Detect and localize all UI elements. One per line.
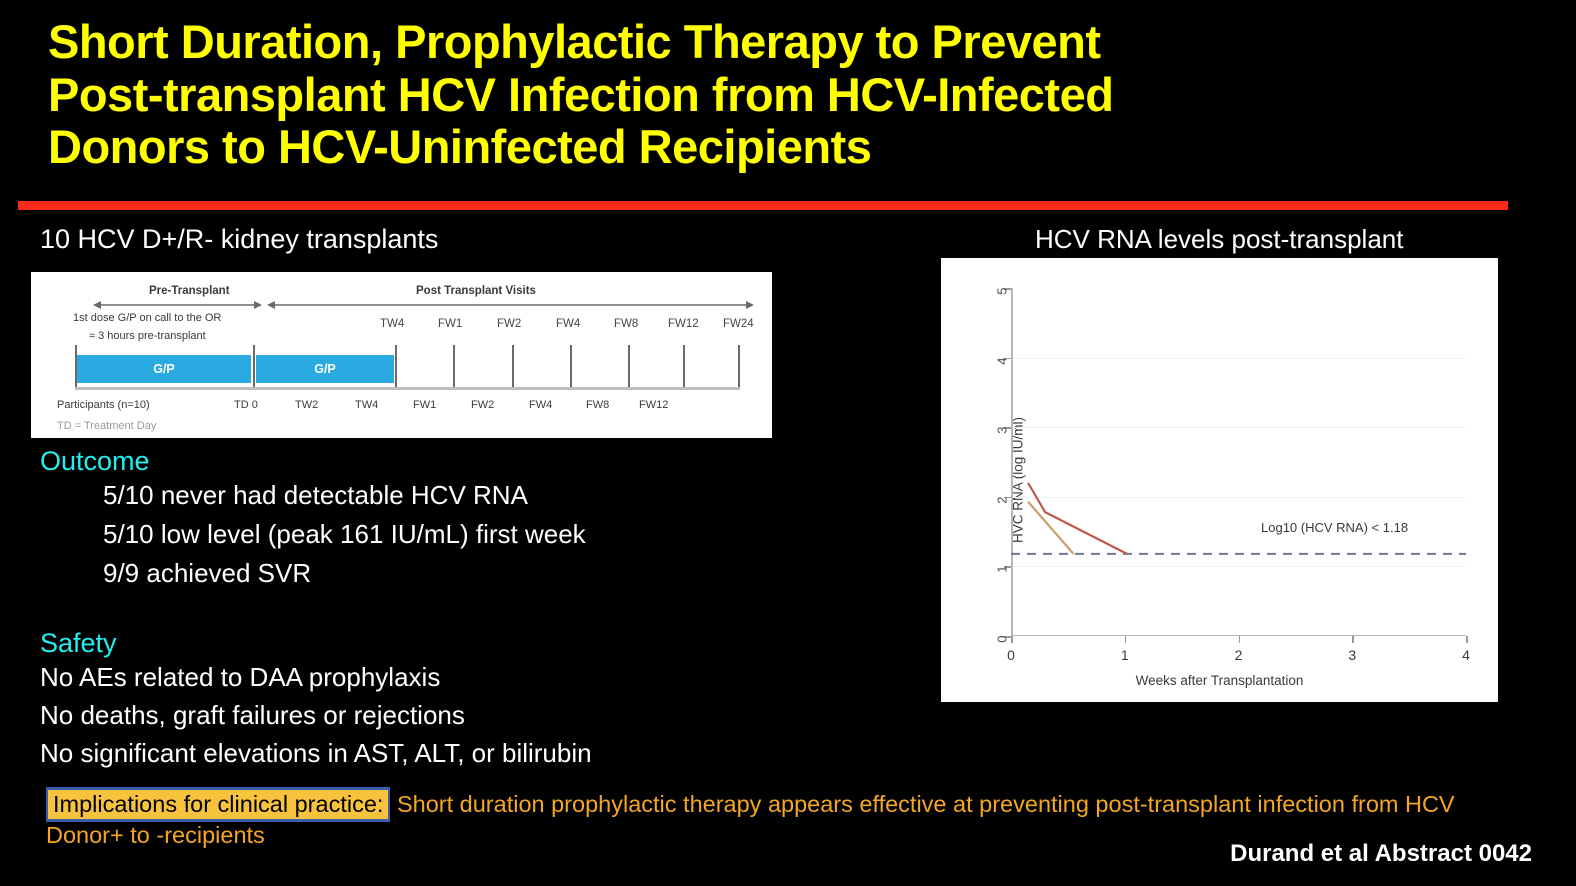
- implications-tag: Implications for clinical practice:: [46, 787, 390, 822]
- participant-visit-fw1: FW1: [413, 399, 436, 411]
- safety-item-3: No significant elevations in AST, ALT, o…: [40, 738, 592, 769]
- ytick-label-0: 0: [995, 636, 1010, 643]
- pre-transplant-arrow-right: [254, 301, 262, 309]
- safety-heading: Safety: [40, 628, 117, 659]
- page-title: Short Duration, Prophylactic Therapy to …: [48, 16, 1538, 174]
- outcome-item-2: 5/10 low level (peak 161 IU/mL) first we…: [103, 519, 586, 550]
- safety-item-1: No AEs related to DAA prophylaxis: [40, 662, 440, 693]
- participant-visit-fw4: FW4: [529, 399, 552, 411]
- timeline-baseline: [75, 387, 740, 390]
- participant-visit-fw12: FW12: [639, 399, 668, 411]
- timeline-tick-transplant: [253, 345, 255, 387]
- visit-label-fw1: FW1: [438, 318, 462, 330]
- left-column-header: 10 HCV D+/R- kidney transplants: [40, 224, 438, 255]
- participant-visit-tw2: TW2: [295, 399, 318, 411]
- gp-bar-post-transplant: G/P: [256, 355, 394, 383]
- xtick-4: [1466, 636, 1468, 643]
- participant-visit-tw4: TW4: [355, 399, 378, 411]
- outcome-item-3: 9/9 achieved SVR: [103, 558, 311, 589]
- xtick-1: [1125, 636, 1127, 643]
- title-line-2: Post-transplant HCV Infection from HCV-I…: [48, 69, 1538, 122]
- diagram-footnote: TD = Treatment Day: [57, 420, 156, 432]
- slide: Short Duration, Prophylactic Therapy to …: [0, 0, 1576, 886]
- visit-label-fw8: FW8: [614, 318, 638, 330]
- outcome-heading: Outcome: [40, 446, 150, 477]
- xtick-2: [1239, 636, 1241, 643]
- series-line-participant-b: [1028, 502, 1074, 554]
- title-underline: [18, 201, 1508, 210]
- study-design-diagram: Pre-Transplant Post Transplant Visits 1s…: [31, 272, 772, 438]
- title-line-3: Donors to HCV-Uninfected Recipients: [48, 121, 1538, 174]
- ytick-label-1: 1: [995, 566, 1010, 573]
- xtick-0: [1011, 636, 1013, 643]
- gp-bar-pre-transplant: G/P: [77, 355, 251, 383]
- xtick-label-4: 4: [1462, 647, 1470, 663]
- safety-item-2: No deaths, graft failures or rejections: [40, 700, 465, 731]
- visit-tick-fw4: [570, 345, 572, 387]
- title-line-1: Short Duration, Prophylactic Therapy to …: [48, 16, 1538, 69]
- citation-credit: Durand et al Abstract 0042: [1230, 840, 1532, 868]
- participant-visit-fw2: FW2: [471, 399, 494, 411]
- visit-tick-fw8: [628, 345, 630, 387]
- xtick-3: [1352, 636, 1354, 643]
- pre-transplant-arrow-line: [99, 304, 254, 306]
- chart-series-svg: [1011, 288, 1466, 636]
- visit-label-fw24: FW24: [723, 318, 754, 330]
- visit-tick-fw12: [683, 345, 685, 387]
- participant-visit-fw8: FW8: [586, 399, 609, 411]
- xtick-label-1: 1: [1121, 647, 1129, 663]
- ytick-label-5: 5: [995, 288, 1010, 295]
- chart-title: HCV RNA levels post-transplant: [1035, 224, 1403, 255]
- visit-tick-fw24: [738, 345, 740, 387]
- visit-tick-fw2: [512, 345, 514, 387]
- hcv-rna-chart: HVC RNA (log IU/ml) Weeks after Transpla…: [941, 258, 1498, 702]
- post-transplant-arrow-right: [746, 301, 754, 309]
- xtick-label-0: 0: [1007, 647, 1015, 663]
- xtick-label-2: 2: [1235, 647, 1243, 663]
- xtick-label-3: 3: [1348, 647, 1356, 663]
- visit-label-fw4: FW4: [556, 318, 580, 330]
- visit-tick-tw4: [395, 345, 397, 387]
- post-transplant-arrow-line: [274, 304, 746, 306]
- participants-label: Participants (n=10): [57, 399, 150, 411]
- visit-tick-fw1: [453, 345, 455, 387]
- chart-plot-area: 0 1 2 3 4 5 0 1 2 3 4: [1011, 288, 1466, 636]
- visit-label-fw2: FW2: [497, 318, 521, 330]
- outcome-item-1: 5/10 never had detectable HCV RNA: [103, 480, 528, 511]
- ytick-label-4: 4: [995, 357, 1010, 364]
- participant-visit-td0: TD 0: [234, 399, 258, 411]
- threshold-annotation: Log10 (HCV RNA) < 1.18: [1261, 520, 1408, 535]
- visit-label-fw12: FW12: [668, 318, 699, 330]
- ytick-label-3: 3: [995, 427, 1010, 434]
- visit-label-tw4: TW4: [380, 318, 404, 330]
- dose-note-line-2: ≈ 3 hours pre-transplant: [89, 330, 206, 342]
- dose-note-line-1: 1st dose G/P on call to the OR: [73, 312, 221, 324]
- chart-x-axis-label: Weeks after Transplantation: [941, 673, 1498, 688]
- pre-transplant-arrow-left: [93, 301, 101, 309]
- post-transplant-arrow-left: [267, 301, 275, 309]
- diagram-phase-post-transplant: Post Transplant Visits: [416, 285, 536, 297]
- ytick-label-2: 2: [995, 496, 1010, 503]
- diagram-phase-pre-transplant: Pre-Transplant: [149, 285, 230, 297]
